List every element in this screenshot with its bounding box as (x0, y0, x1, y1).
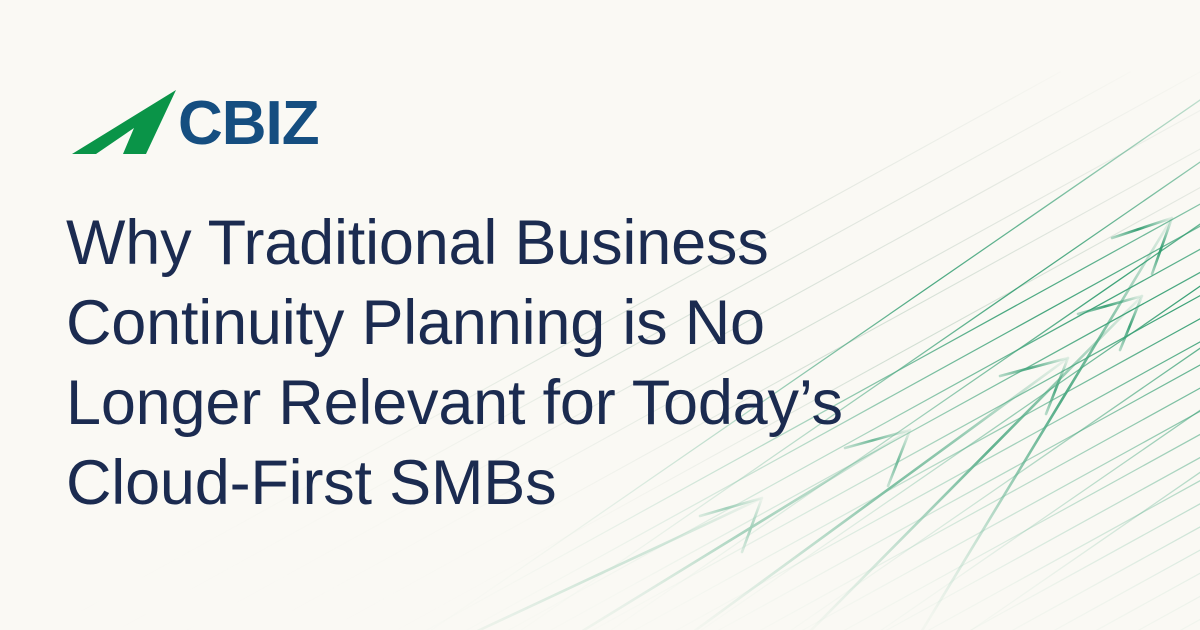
headline-line-2: Continuity Planning is No (66, 283, 1006, 363)
cbiz-arrow-swoosh-icon (68, 88, 180, 162)
page-title: Why Traditional Business Continuity Plan… (66, 203, 1006, 523)
social-share-card: CBIZ Why Traditional Business Continuity… (0, 0, 1200, 630)
cbiz-logo[interactable]: CBIZ (68, 82, 374, 168)
svg-text:CBIZ: CBIZ (178, 92, 319, 158)
headline-line-3: Longer Relevant for Today’s (66, 363, 1006, 443)
cbiz-wordmark: CBIZ (178, 92, 374, 158)
headline-line-4: Cloud-First SMBs (66, 443, 1006, 523)
headline-line-1: Why Traditional Business (66, 203, 1006, 283)
